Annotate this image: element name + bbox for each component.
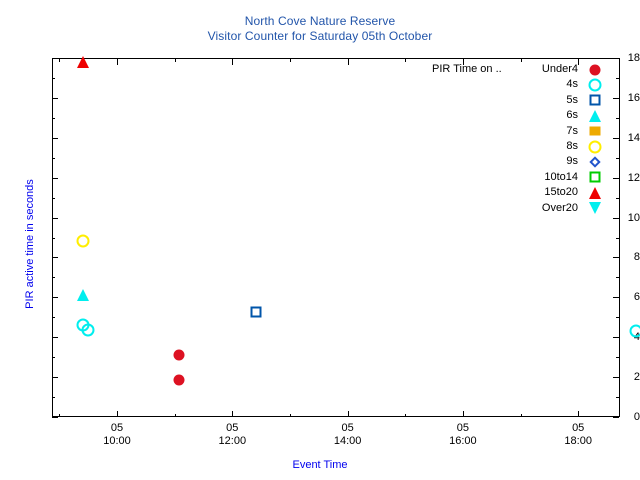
x-tick-time: 18:00 <box>533 435 623 448</box>
data-point <box>82 324 95 337</box>
x-tick-time: 14:00 <box>303 435 393 448</box>
x-tick-label: 0518:00 <box>533 422 623 448</box>
x-tick-day: 05 <box>303 422 393 435</box>
legend-label: 6s <box>566 108 578 123</box>
data-point <box>77 289 89 301</box>
legend-item[interactable]: 5s <box>300 93 606 108</box>
x-tick-label: 0514:00 <box>303 422 393 448</box>
title-sub: Visitor Counter for Saturday 05th Octobe… <box>0 29 640 44</box>
legend-item[interactable]: Over20 <box>300 201 606 216</box>
chart-title: North Cove Nature Reserve Visitor Counte… <box>0 14 640 44</box>
legend-label: 7s <box>566 124 578 139</box>
data-point <box>251 307 262 318</box>
y-axis-label: PIR active time in seconds <box>24 144 36 344</box>
chart-canvas: North Cove Nature Reserve Visitor Counte… <box>0 0 640 480</box>
legend-title: PIR Time on .. <box>432 62 502 77</box>
legend-item[interactable]: 8s <box>300 139 606 154</box>
data-point <box>174 350 185 361</box>
x-tick-label: 0512:00 <box>187 422 277 448</box>
x-tick-day: 05 <box>187 422 277 435</box>
y-tick-mark <box>613 417 619 418</box>
x-tick-label: 0516:00 <box>418 422 508 448</box>
data-point <box>174 375 185 386</box>
legend-label: 5s <box>566 93 578 108</box>
x-tick-time: 16:00 <box>418 435 508 448</box>
legend-label: Under4 <box>542 62 578 77</box>
legend-label: 10to14 <box>544 170 578 185</box>
y-tick-mark <box>52 417 58 418</box>
x-tick-day: 05 <box>418 422 508 435</box>
x-axis-label: Event Time <box>0 459 640 471</box>
data-point <box>629 325 640 338</box>
legend-item[interactable]: PIR Time on ..Under4 <box>300 62 606 77</box>
x-tick-time: 12:00 <box>187 435 277 448</box>
legend: PIR Time on ..Under44s5s6s7s8s9s10to1415… <box>300 62 606 216</box>
x-tick-label: 0510:00 <box>72 422 162 448</box>
x-tick-time: 10:00 <box>72 435 162 448</box>
legend-item[interactable]: 15to20 <box>300 185 606 200</box>
x-tick-day: 05 <box>533 422 623 435</box>
legend-item[interactable]: 9s <box>300 154 606 169</box>
legend-label: 4s <box>566 77 578 92</box>
legend-item[interactable]: 4s <box>300 77 606 92</box>
legend-item[interactable]: 7s <box>300 124 606 139</box>
legend-label: Over20 <box>542 201 578 216</box>
legend-label: 9s <box>566 154 578 169</box>
data-point <box>77 56 89 68</box>
legend-label: 15to20 <box>544 185 578 200</box>
title-main: North Cove Nature Reserve <box>0 14 640 29</box>
legend-item[interactable]: 6s <box>300 108 606 123</box>
data-point <box>77 235 90 248</box>
x-tick-day: 05 <box>72 422 162 435</box>
legend-item[interactable]: 10to14 <box>300 170 606 185</box>
legend-label: 8s <box>566 139 578 154</box>
